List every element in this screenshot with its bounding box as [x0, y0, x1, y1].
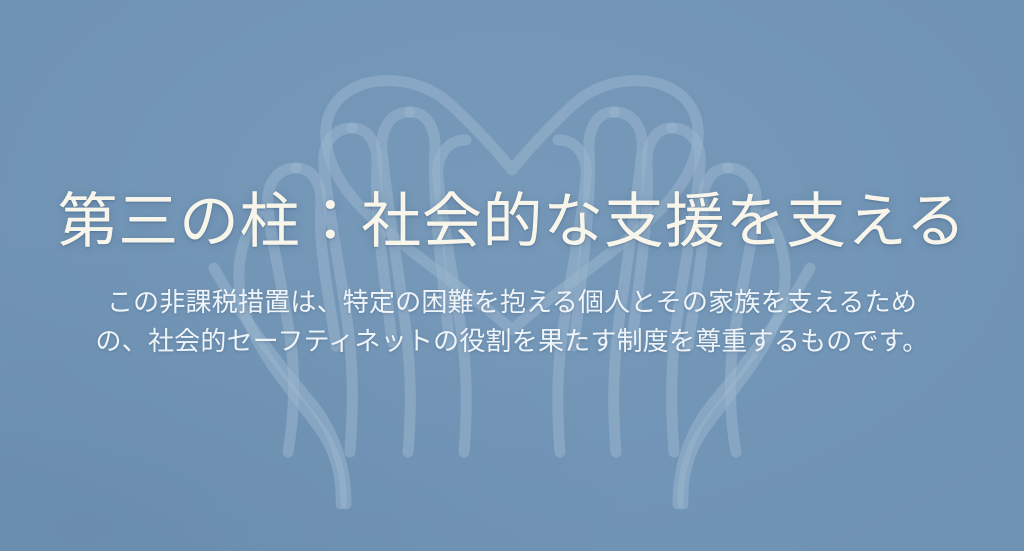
slide-subtitle: この非課税措置は、特定の困難を抱える個人とその家族を支えるため の、社会的セーフ… [36, 283, 989, 362]
subtitle-line-1: この非課税措置は、特定の困難を抱える個人とその家族を支えるため [96, 283, 929, 323]
slide-title: 第三の柱：社会的な支援を支える [28, 189, 997, 256]
title-slide: 第三の柱：社会的な支援を支える この非課税措置は、特定の困難を抱える個人とその家… [0, 0, 1024, 551]
subtitle-line-2: の、社会的セーフティネットの役割を果たす制度を尊重するものです。 [96, 322, 929, 362]
slide-content: 第三の柱：社会的な支援を支える この非課税措置は、特定の困難を抱える個人とその家… [0, 0, 1024, 551]
